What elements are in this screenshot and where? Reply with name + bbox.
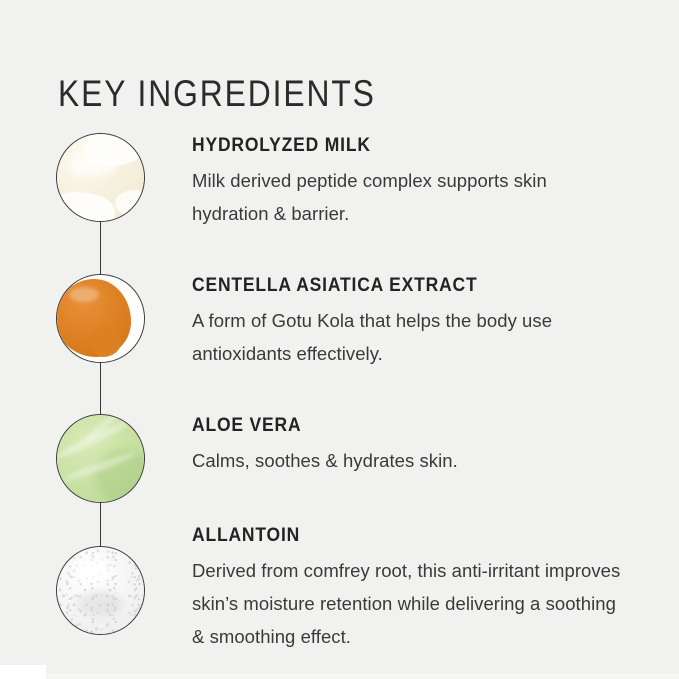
ingredient-heading: HYDROLYZED MILK (192, 136, 588, 157)
ingredient-heading: ALLANTOIN (192, 526, 588, 547)
milk-sheen (69, 156, 119, 176)
ingredient-description: Milk derived peptide complex supports sk… (192, 164, 622, 230)
milk-swatch-inner (57, 134, 144, 221)
centella-extract-swatch (56, 274, 145, 363)
ingredient-block-centella-asiatica-extract: CENTELLA ASIATICA EXTRACT A form of Gotu… (192, 276, 622, 370)
aloe-swatch-inner (57, 415, 144, 502)
aloe-gel-swatch (56, 414, 145, 503)
allantoin-clump (77, 591, 123, 617)
allantoin-highlight (73, 559, 113, 581)
ingredient-description: Calms, soothes & hydrates skin. (192, 444, 622, 477)
key-ingredients-infographic: KEY INGREDIENTS (0, 0, 679, 679)
ingredient-description: A form of Gotu Kola that helps the body … (192, 304, 622, 370)
ingredient-heading: ALOE VERA (192, 416, 588, 437)
ingredient-block-aloe-vera: ALOE VERA Calms, soothes & hydrates skin… (192, 416, 622, 477)
connector-line-2 (100, 357, 101, 418)
swatch-column (0, 0, 200, 679)
connector-line-1 (100, 216, 101, 278)
centella-swatch-inner (57, 275, 144, 362)
ingredient-block-allantoin: ALLANTOIN Derived from comfrey root, thi… (192, 526, 622, 653)
milk-texture-swatch (56, 133, 145, 222)
allantoin-powder-swatch (56, 546, 145, 635)
allantoin-swatch-inner (57, 547, 144, 634)
connector-line-3 (100, 497, 101, 547)
bottom-left-corner-mark (0, 665, 46, 679)
ingredient-heading: CENTELLA ASIATICA EXTRACT (192, 276, 588, 297)
centella-gloss (69, 287, 99, 302)
ingredient-block-hydrolyzed-milk: HYDROLYZED MILK Milk derived peptide com… (192, 136, 622, 230)
ingredient-description: Derived from comfrey root, this anti-irr… (192, 554, 622, 653)
bottom-edge-band (0, 673, 679, 679)
milk-blob-right (115, 190, 144, 216)
